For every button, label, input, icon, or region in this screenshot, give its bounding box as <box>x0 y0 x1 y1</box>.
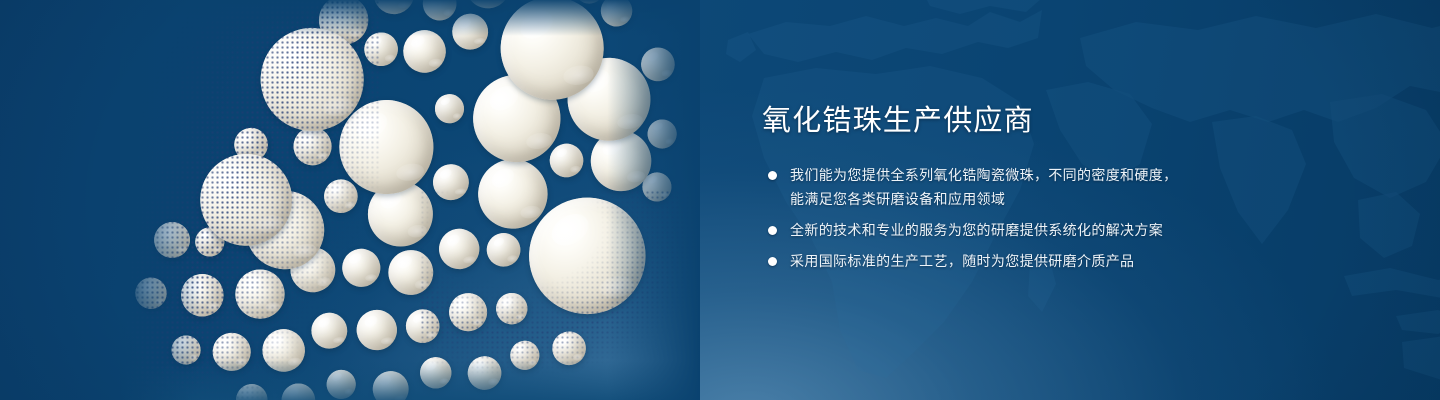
ceramic-bead <box>354 307 400 353</box>
ceramic-bead <box>462 0 513 11</box>
ceramic-bead <box>645 117 678 150</box>
bullet-dot-icon <box>768 171 777 180</box>
ceramic-bead <box>385 247 436 298</box>
ceramic-bead <box>450 11 491 52</box>
ceramic-bead <box>465 354 503 392</box>
ceramic-bead <box>232 266 288 322</box>
ceramic-bead <box>234 382 270 400</box>
ceramic-bead <box>484 231 522 269</box>
bullet-line: 我们能为您提供全系列氧化锆陶瓷微珠，不同的密度和硬度， <box>790 163 1382 187</box>
list-item: 采用国际标准的生产工艺，随时为您提供研磨介质产品 <box>762 249 1382 273</box>
ceramic-bead <box>152 219 193 260</box>
ceramic-bead <box>370 369 411 400</box>
ceramic-bead <box>494 291 530 327</box>
beads-cluster <box>120 0 700 400</box>
bullet-line: 采用国际标准的生产工艺，随时为您提供研磨介质产品 <box>790 249 1382 273</box>
bullet-line: 全新的技术和专业的服务为您的研磨提供系统化的解决方案 <box>790 218 1382 242</box>
ceramic-bead <box>403 307 441 345</box>
ceramic-bead <box>279 381 317 400</box>
ceramic-bead <box>599 0 635 29</box>
bullet-line: 能满足您各类研磨设备和应用领域 <box>790 187 1382 211</box>
ceramic-bead <box>547 141 585 179</box>
ceramic-bead <box>325 368 358 400</box>
ceramic-bead <box>508 339 541 372</box>
hero-banner: 氧化锆珠生产供应商 我们能为您提供全系列氧化锆陶瓷微珠，不同的密度和硬度， 能满… <box>0 0 1440 400</box>
ceramic-bead <box>259 326 308 375</box>
ceramic-bead <box>436 226 482 272</box>
ceramic-bead <box>309 310 350 351</box>
ceramic-bead <box>446 290 490 334</box>
banner-headline: 氧化锆珠生产供应商 <box>762 100 1382 142</box>
ceramic-bead <box>550 329 588 367</box>
ceramic-bead <box>433 92 466 125</box>
ceramic-bead <box>340 246 384 290</box>
ceramic-bead <box>133 275 169 311</box>
ceramic-bead <box>371 0 417 17</box>
ceramic-bead <box>169 333 202 366</box>
list-item: 我们能为您提供全系列氧化锆陶瓷微珠，不同的密度和硬度， 能满足您各类研磨设备和应… <box>762 163 1382 211</box>
ceramic-bead <box>178 271 227 320</box>
ceramic-bead <box>362 30 400 68</box>
zirconia-beads-photo <box>120 0 700 400</box>
ceramic-bead <box>418 355 454 391</box>
ceramic-bead <box>430 162 471 203</box>
list-item: 全新的技术和专业的服务为您的研磨提供系统化的解决方案 <box>762 218 1382 242</box>
banner-content: 氧化锆珠生产供应商 我们能为您提供全系列氧化锆陶瓷微珠，不同的密度和硬度， 能满… <box>762 100 1382 273</box>
bullet-dot-icon <box>768 226 777 235</box>
ceramic-bead <box>210 330 254 374</box>
ceramic-bead <box>400 27 449 76</box>
ceramic-bead <box>420 0 458 23</box>
ceramic-bead <box>322 177 360 215</box>
bullet-dot-icon <box>768 257 777 266</box>
feature-bullet-list: 我们能为您提供全系列氧化锆陶瓷微珠，不同的密度和硬度， 能满足您各类研磨设备和应… <box>762 163 1382 273</box>
